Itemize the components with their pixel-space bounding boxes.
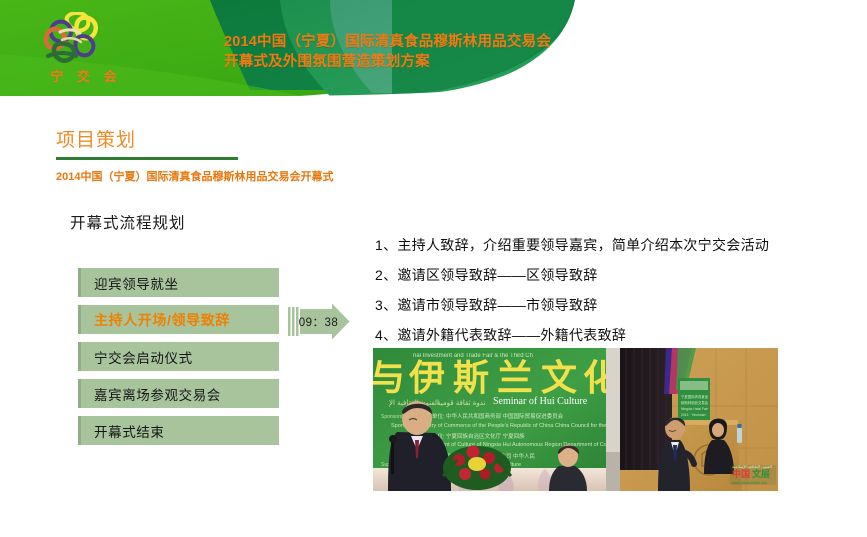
svg-text:2014 · Yinchuan: 2014 · Yinchuan [681,413,706,417]
svg-text:Ningxia Halal Fair: Ningxia Halal Fair [681,407,709,411]
svg-text:ندوة ثقافة قومية: ندوة ثقافة قومية [437,399,485,407]
time-arrow-badge: 09：38 [288,303,350,340]
note-line-1: 1、主持人致辞，介绍重要领导嘉宾，简单介绍本次宁交会活动 [375,230,845,260]
logo: 宁 交 会 [38,12,134,90]
flow-item-label: 迎宾领导就坐 [94,273,179,293]
flow-item-5[interactable]: 开幕式结束 [78,416,279,445]
svg-text:斯: 斯 [453,358,489,399]
note-line-3: 3、邀请市领导致辞——市领导致辞 [375,290,845,320]
svg-text:文: 文 [541,358,577,399]
flow-item-1[interactable]: 迎宾领导就坐 [78,268,279,297]
svg-text:主办单位: 中华人民共和国商务部 中国国际贸易促进委员: 主办单位: 中华人民共和国商务部 中国国际贸易促进委员会 [421,412,564,420]
note-line-2: 2、邀请区领导致辞——区领导致辞 [375,260,845,290]
flow-item-4[interactable]: 嘉宾离场参观交易会 [78,379,279,408]
svg-text:与: 与 [373,358,405,399]
note-line-4: 4、邀请外籍代表致辞——外籍代表致辞 [375,320,845,350]
svg-text:www.chinahalalfair.com: www.chinahalalfair.com [732,481,767,485]
flow-item-label: 开幕式结束 [94,421,165,441]
photo-podium-image: 宁夏国际清真食品 穆斯林用品交易会 Ningxia Halal Fair 201… [606,348,778,491]
arrow-time-label: 09：38 [288,303,340,340]
photo-strip: nal Investment and Trade Fair & the Thir… [373,348,778,491]
svg-text:宁夏国际清真食品: 宁夏国际清真食品 [681,394,709,399]
svg-text:化: 化 [583,358,606,399]
svg-text:中国: 中国 [732,468,750,480]
logo-text: 宁 交 会 [38,66,134,85]
header-title-line1: 2014中国（宁夏）国际清真食品穆斯林用品交易会 [224,34,551,50]
flow-item-label: 宁交会启动仪式 [94,347,193,367]
svg-text:Sponsors: Sponsors [381,414,403,420]
header-title-line2: 开幕式及外围氛围营造策划方案 [224,52,644,72]
page-subtitle: 2014中国（宁夏）国际清真食品穆斯林用品交易会开幕式 [56,170,356,185]
flow-item-2-active[interactable]: 主持人开场/领导致辞 [78,305,279,334]
page-title: 项目策划 [56,128,356,154]
notes-list: 1、主持人致辞，介绍重要领导嘉宾，简单介绍本次宁交会活动 2、邀请区领导致辞——… [375,230,845,350]
page-header: 宁 交 会 2014中国（宁夏）国际清真食品穆斯林用品交易会 开幕式及外围氛围营… [0,0,867,107]
flow-item-label: 嘉宾离场参观交易会 [94,384,221,404]
svg-text:穆斯林用品交易会: 穆斯林用品交易会 [681,400,709,405]
svg-text:兰: 兰 [497,358,533,399]
photo-seminar-image: nal Investment and Trade Fair & the Thir… [373,348,606,491]
photo-seminar-green-backdrop: nal Investment and Trade Fair & the Thir… [373,348,606,491]
flower-petal-logo-icon [38,12,110,66]
flow-list: 迎宾领导就坐 主持人开场/领导致辞 宁交会启动仪式 嘉宾离场参观交易会 开幕式结… [78,268,279,453]
flow-item-label: 主持人开场/领导致辞 [94,310,230,330]
header-title: 2014中国（宁夏）国际清真食品穆斯林用品交易会 开幕式及外围氛围营造策划方案 [224,32,644,72]
svg-text:Seminar of Hui Culture: Seminar of Hui Culture [493,396,588,407]
flow-item-3[interactable]: 宁交会启动仪式 [78,342,279,371]
title-underline [56,157,238,160]
svg-text:文层: 文层 [751,468,770,480]
svg-text:伊: 伊 [408,358,445,399]
photo-podium-speakers: 宁夏国际清真食品 穆斯林用品交易会 Ningxia Halal Fair 201… [606,348,778,491]
section-header: 项目策划 2014中国（宁夏）国际清真食品穆斯林用品交易会开幕式 [56,128,356,185]
flow-heading: 开幕式流程规划 [70,211,186,233]
